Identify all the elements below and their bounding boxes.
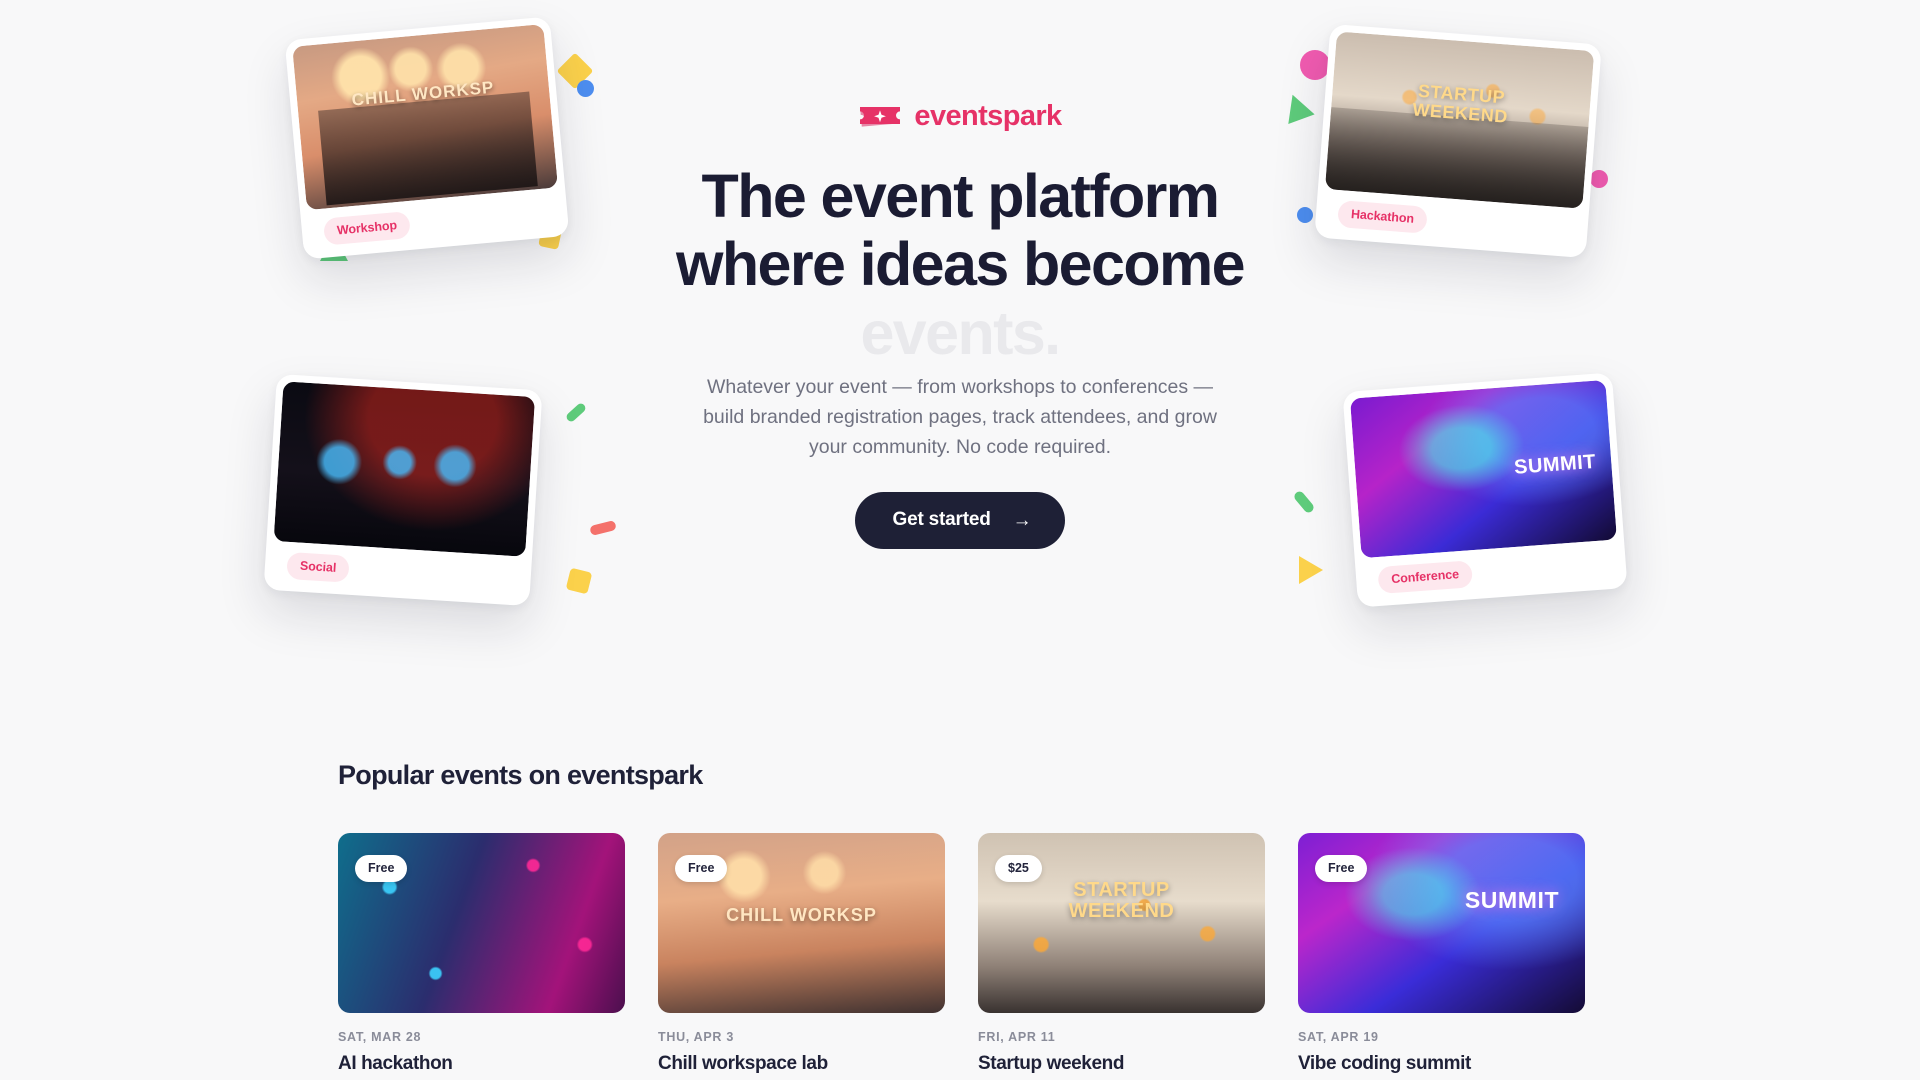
event-thumbnail[interactable]: STARTUPWEEKEND $25 bbox=[978, 833, 1265, 1013]
decoration-circle-magenta bbox=[1300, 50, 1330, 80]
brand-lockup[interactable]: eventspark bbox=[0, 100, 1920, 133]
floating-event-card-conference[interactable]: SUMMIT Conference bbox=[1342, 372, 1627, 607]
event-date: THU, APR 3 bbox=[658, 1030, 945, 1044]
event-title[interactable]: Startup weekend bbox=[978, 1053, 1265, 1075]
landing-page: CHILL WORKSP Workshop STARTUPWEEKEND Hac… bbox=[0, 0, 1920, 1080]
headline-line-3: events. bbox=[860, 299, 1059, 367]
popular-events-section: Popular events on eventspark Free SAT, M… bbox=[0, 760, 1920, 1075]
event-title[interactable]: Vibe coding summit bbox=[1298, 1053, 1585, 1075]
event-date: SAT, APR 19 bbox=[1298, 1030, 1585, 1044]
floating-card-category-pill: Social bbox=[286, 552, 350, 583]
event-card[interactable]: CHILL WORKSP Free THU, APR 3 Chill works… bbox=[658, 833, 945, 1075]
get-started-button[interactable]: Get started → bbox=[855, 492, 1066, 549]
brand-name: eventspark bbox=[914, 100, 1061, 133]
event-thumbnail[interactable]: CHILL WORKSP Free bbox=[658, 833, 945, 1013]
event-thumbnail[interactable]: SUMMIT Free bbox=[1298, 833, 1585, 1013]
decoration-circle-blue bbox=[577, 80, 594, 97]
event-date: FRI, APR 11 bbox=[978, 1030, 1265, 1044]
event-image-caption: STARTUPWEEKEND bbox=[978, 880, 1265, 922]
floating-card-category-pill: Conference bbox=[1377, 560, 1473, 594]
event-card[interactable]: SUMMIT Free SAT, APR 19 Vibe coding summ… bbox=[1298, 833, 1585, 1075]
event-date: SAT, MAR 28 bbox=[338, 1030, 625, 1044]
event-price-badge: $25 bbox=[995, 855, 1042, 882]
event-thumbnail[interactable]: Free bbox=[338, 833, 625, 1013]
event-title[interactable]: Chill workspace lab bbox=[658, 1053, 945, 1075]
arrow-right-icon: → bbox=[1013, 511, 1032, 530]
ticket-sparkle-icon bbox=[858, 102, 902, 132]
page-title: The event platform where ideas become ev… bbox=[0, 162, 1920, 367]
get-started-label: Get started bbox=[893, 509, 991, 531]
floating-event-card-social[interactable]: Social bbox=[263, 374, 542, 606]
event-image-caption: SUMMIT bbox=[1465, 887, 1559, 914]
headline-line-1: The event platform bbox=[702, 162, 1219, 230]
hero-section: CHILL WORKSP Workshop STARTUPWEEKEND Hac… bbox=[0, 0, 1920, 740]
decoration-bar-green bbox=[565, 402, 587, 423]
event-image-caption: CHILL WORKSP bbox=[658, 905, 945, 926]
popular-events-title: Popular events on eventspark bbox=[338, 760, 1920, 791]
cta-container: Get started → bbox=[0, 492, 1920, 549]
decoration-triangle-yellow bbox=[1299, 556, 1323, 584]
floating-card-image-caption: SUMMIT bbox=[1513, 451, 1596, 480]
event-card[interactable]: STARTUPWEEKEND $25 FRI, APR 11 Startup w… bbox=[978, 833, 1265, 1075]
event-title[interactable]: AI hackathon bbox=[338, 1053, 625, 1075]
event-price-badge: Free bbox=[355, 855, 407, 882]
event-price-badge: Free bbox=[675, 855, 727, 882]
hero-subheadline: Whatever your event — from workshops to … bbox=[695, 372, 1225, 463]
event-card[interactable]: Free SAT, MAR 28 AI hackathon bbox=[338, 833, 625, 1075]
decoration-square-yellow bbox=[566, 568, 593, 595]
headline-line-2: where ideas become bbox=[676, 230, 1244, 298]
event-price-badge: Free bbox=[1315, 855, 1367, 882]
popular-events-grid: Free SAT, MAR 28 AI hackathon CHILL WORK… bbox=[338, 833, 1582, 1075]
